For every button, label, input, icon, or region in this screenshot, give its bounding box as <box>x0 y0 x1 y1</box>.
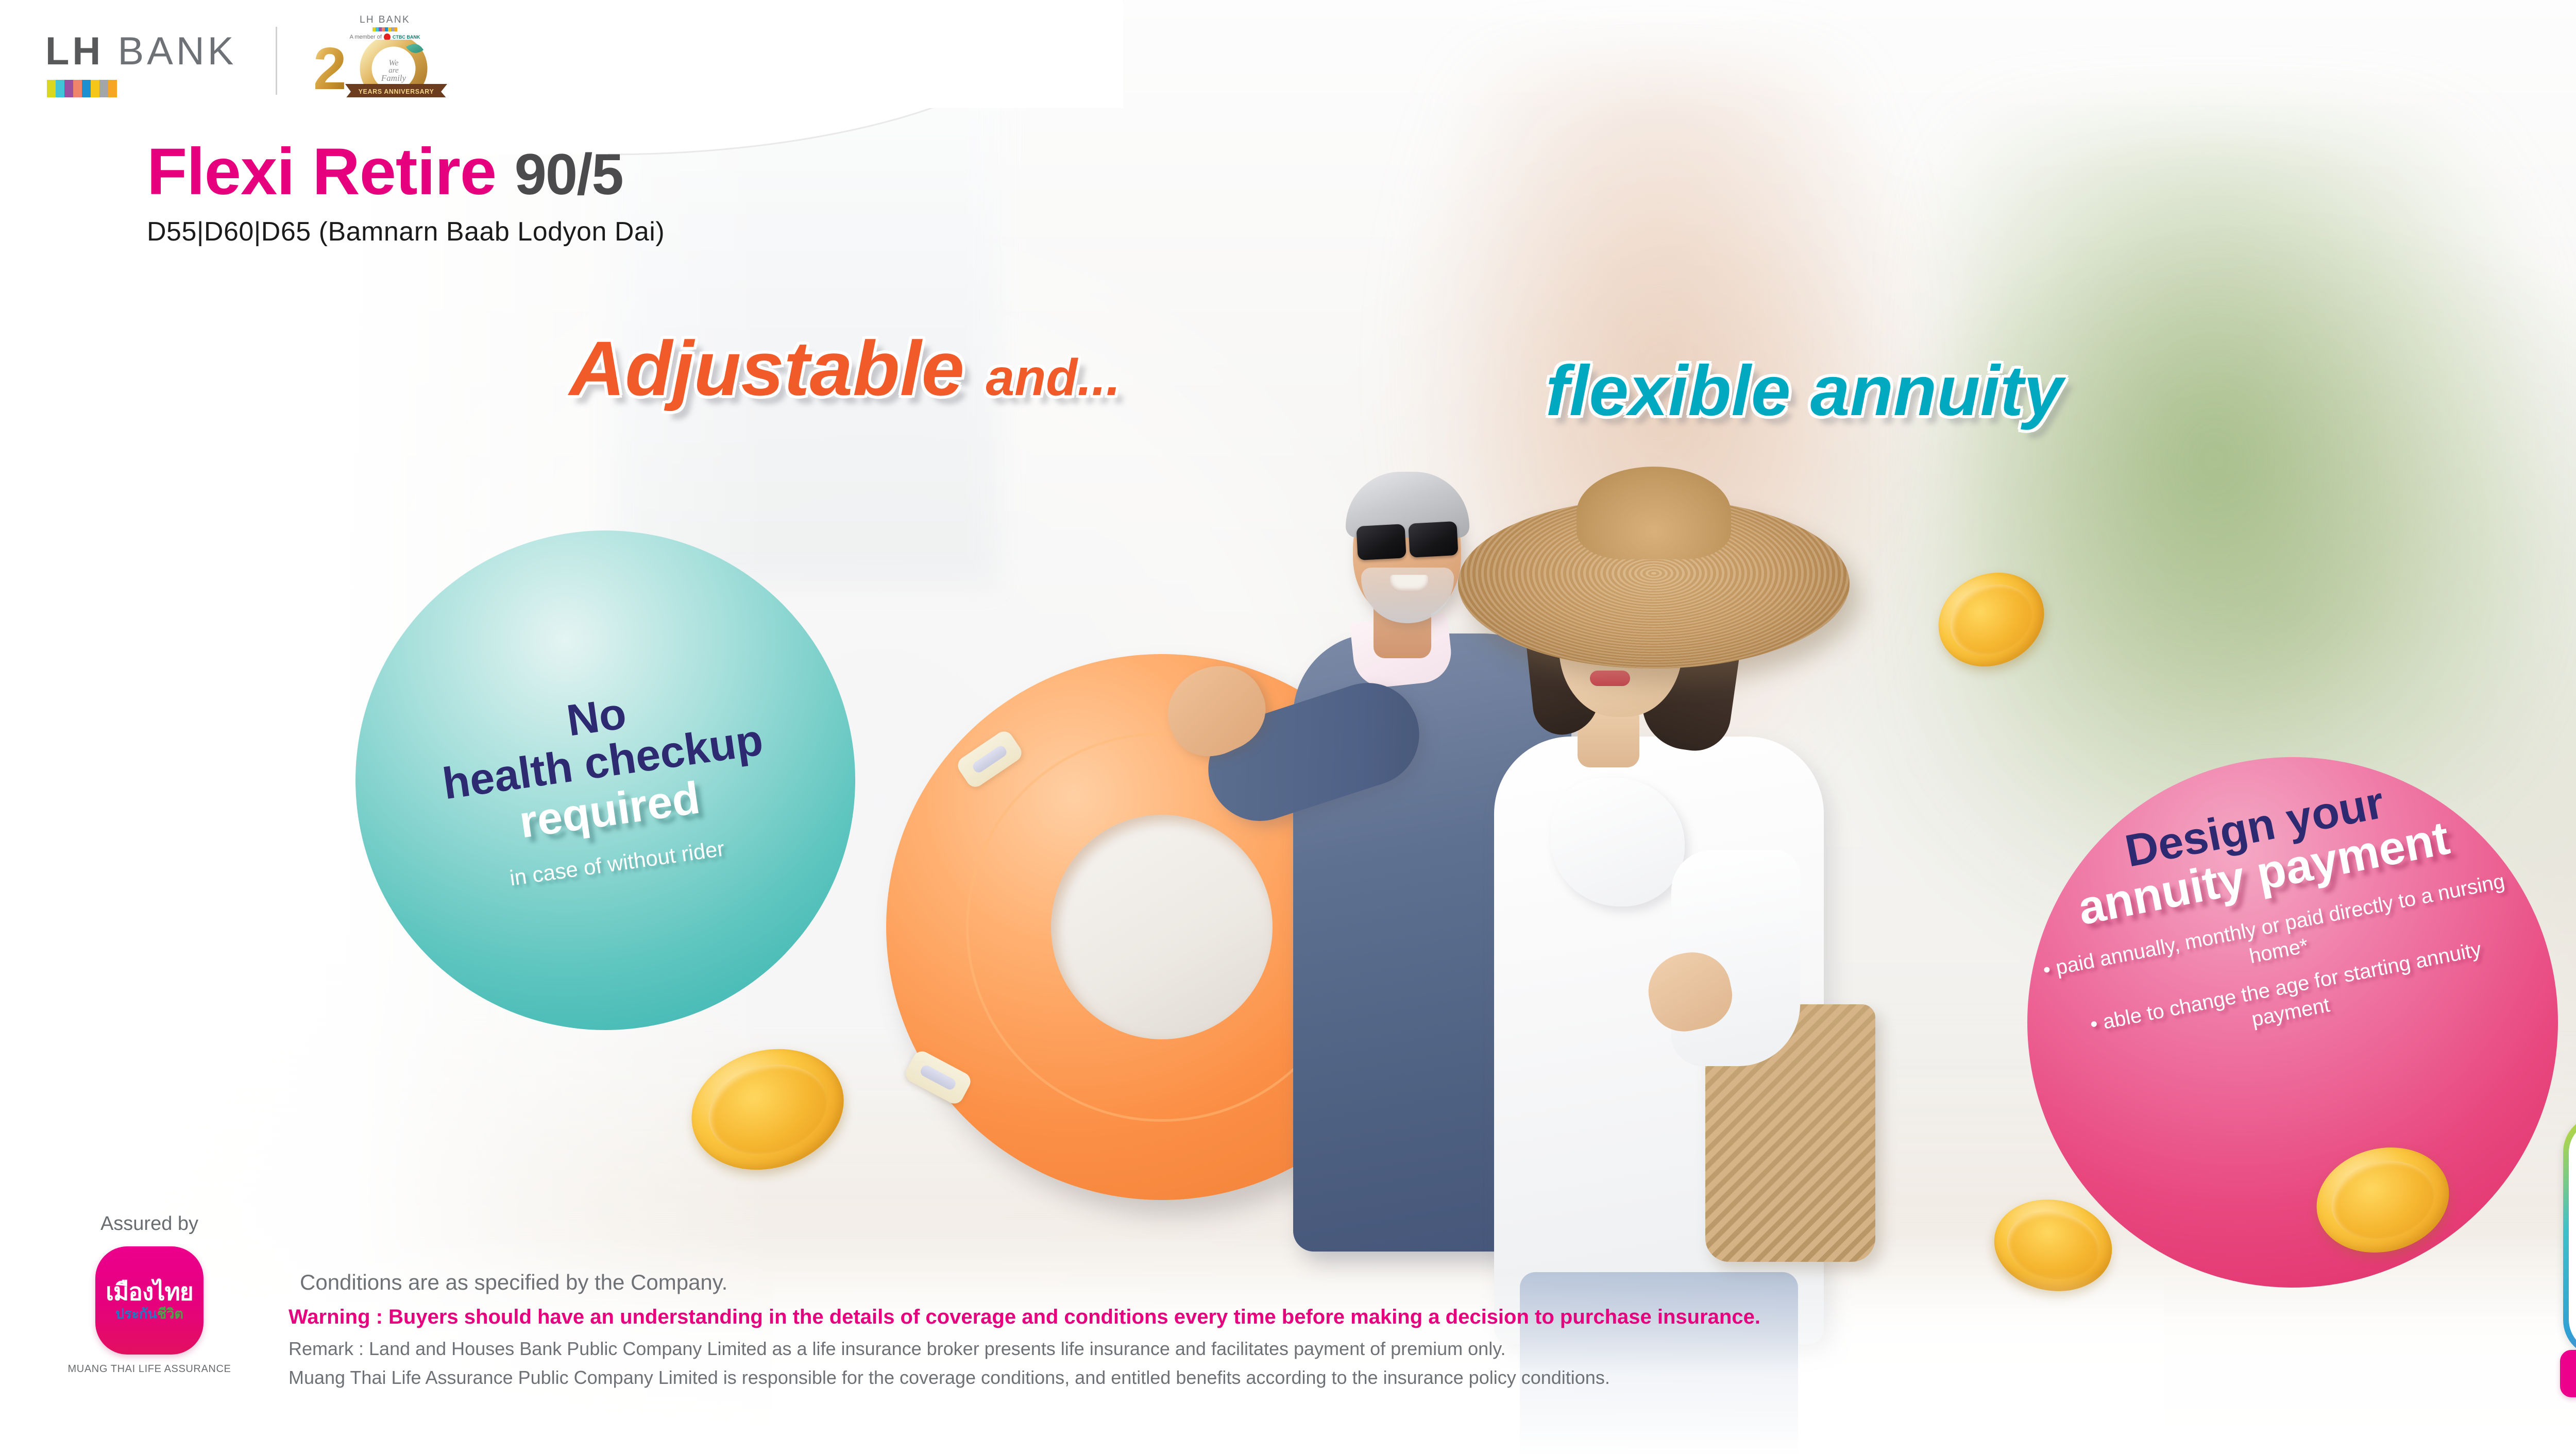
product-subtitle: D55|D60|D65 (Bamnarn Baab Lodyon Dai) <box>147 216 665 247</box>
anniversary-20-graphic: 2 We are Family YEARS ANNIVERSARY <box>305 40 465 95</box>
headline-adjustable-tail: and... <box>986 349 1120 406</box>
anniversary-ribbon-text: YEARS ANNIVERSARY <box>359 88 434 95</box>
qr-rainbow-frame <box>2563 1115 2576 1357</box>
insurer-name-en: MUANG THAI LIFE ASSURANCE <box>62 1363 237 1376</box>
insurer-thai-main: เมืองไทย <box>106 1280 193 1304</box>
disclaimer-responsibility: Muang Thai Life Assurance Public Company… <box>289 1367 1760 1389</box>
anniversary-lh-bank: LH BANK <box>305 14 465 26</box>
headline-flexible-annuity: flexible annuity <box>1546 355 2063 426</box>
product-title-name: Flexi Retire <box>147 135 496 209</box>
disclaimer-conditions: Conditions are as specified by the Compa… <box>300 1270 1760 1295</box>
svg-text:2: 2 <box>313 40 347 97</box>
assured-by-block: Assured by เมืองไทย ประกันชีวิต MUANG TH… <box>62 1213 237 1376</box>
lh-bank-logo[interactable]: LH BANK <box>45 32 236 97</box>
assured-by-label: Assured by <box>62 1213 237 1235</box>
headline-adjustable: Adjustable and... <box>569 330 1121 407</box>
qr-inner-white <box>2569 1121 2576 1351</box>
title-block: Flexi Retire 90/5 D55|D60|D65 (Bamnarn B… <box>147 139 665 247</box>
insurer-thai-sub-blue: ประกัน <box>115 1306 157 1322</box>
product-title: Flexi Retire 90/5 <box>147 139 665 205</box>
disclaimer-warning: Warning : Buyers should have an understa… <box>289 1305 1760 1329</box>
insurer-thai-sub-green: ชีวิต <box>157 1306 183 1322</box>
insurer-thai-sub: ประกันชีวิต <box>115 1307 183 1321</box>
disclaimer-remark: Remark : Land and Houses Bank Public Com… <box>289 1338 1760 1360</box>
scan-now-button[interactable]: SCAN NOW! <box>2560 1350 2576 1397</box>
sunglasses-icon <box>1351 520 1463 561</box>
swim-ring-handle-bottom <box>903 1048 974 1107</box>
lh-bank-bank: BANK <box>117 29 236 73</box>
headline-adjustable-main: Adjustable <box>569 325 964 412</box>
man-smile <box>1390 575 1428 592</box>
anniversary-color-bars <box>305 27 465 31</box>
swim-ring-handle-top <box>955 728 1025 790</box>
muang-thai-life-logo[interactable]: เมืองไทย ประกันชีวิต <box>95 1246 204 1355</box>
product-title-code: 90/5 <box>515 142 623 207</box>
disclaimer-block: Conditions are as specified by the Compa… <box>289 1270 1760 1396</box>
header-divider <box>276 27 277 95</box>
svg-text:Family: Family <box>381 73 406 83</box>
qr-block[interactable]: SCAN NOW! <box>2563 1115 2576 1397</box>
anniversary-badge: LH BANK A member of CTBC BANK <box>305 14 465 103</box>
lh-bank-color-bars <box>47 80 236 97</box>
lh-bank-lh: LH <box>45 29 104 73</box>
straw-hat <box>1458 499 1850 669</box>
woman-lips <box>1590 671 1630 686</box>
